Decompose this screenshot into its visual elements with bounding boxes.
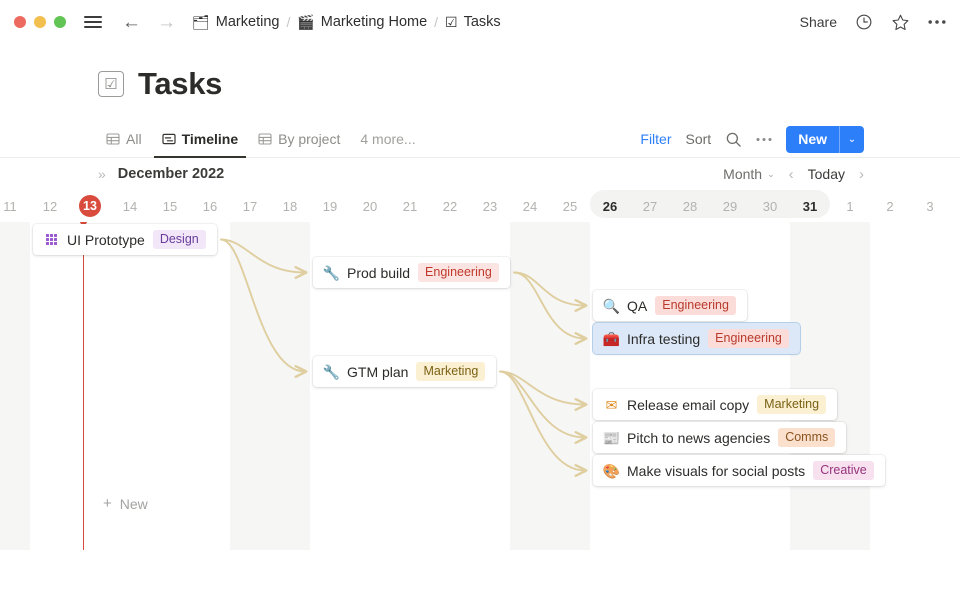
palette-icon: 🎨 bbox=[604, 464, 619, 478]
breadcrumb-separator: / bbox=[434, 14, 438, 30]
ruler-day-14[interactable]: 14 bbox=[110, 192, 150, 220]
ruler-day-28[interactable]: 28 bbox=[670, 192, 710, 220]
breadcrumb-item-marketing-home[interactable]: 🎬 Marketing Home bbox=[297, 14, 427, 30]
ruler-day-21[interactable]: 21 bbox=[390, 192, 430, 220]
timeline-icon bbox=[162, 132, 176, 146]
back-icon[interactable]: ← bbox=[122, 13, 141, 32]
ruler-day-29[interactable]: 29 bbox=[710, 192, 750, 220]
share-button[interactable]: Share bbox=[800, 14, 837, 30]
breadcrumb-label: Marketing Home bbox=[321, 14, 427, 30]
task-card-tag: Marketing bbox=[416, 362, 485, 382]
task-card-tag: Engineering bbox=[655, 296, 736, 316]
timeline-canvas[interactable]: + New UI PrototypeDesign🔧Prod buildEngin… bbox=[0, 222, 960, 550]
task-card-tag: Marketing bbox=[757, 395, 826, 415]
add-new-task-label: New bbox=[120, 496, 148, 512]
task-card-tag: Engineering bbox=[418, 263, 499, 283]
card-index-icon: 🗂 bbox=[192, 15, 210, 29]
new-button-label: New bbox=[786, 126, 839, 153]
task-card-title: Pitch to news agencies bbox=[627, 430, 770, 446]
view-bar-actions: Filter Sort New ⌄ bbox=[640, 126, 864, 153]
view-more-icon[interactable] bbox=[756, 137, 772, 142]
timeline-zoom-label: Month bbox=[723, 166, 762, 182]
timeline-task-card-ui-prototype[interactable]: UI PrototypeDesign bbox=[33, 224, 217, 255]
grid-icon bbox=[44, 234, 59, 246]
page-header: ☑ Tasks bbox=[0, 44, 960, 102]
view-bar: All Timeline By project 4 more... Filter… bbox=[0, 121, 960, 158]
page-title: Tasks bbox=[138, 66, 222, 102]
task-card-title: GTM plan bbox=[347, 364, 408, 380]
today-button[interactable]: Today bbox=[808, 166, 845, 182]
breadcrumb-item-marketing[interactable]: 🗂 Marketing bbox=[192, 14, 279, 30]
previous-period-button[interactable]: ‹ bbox=[789, 166, 794, 183]
table-icon bbox=[106, 132, 120, 146]
ruler-day-3[interactable]: 3 bbox=[910, 192, 950, 220]
maximize-window-button[interactable] bbox=[54, 16, 66, 28]
ruler-day-25[interactable]: 25 bbox=[550, 192, 590, 220]
tab-label: Timeline bbox=[182, 131, 239, 147]
sort-button[interactable]: Sort bbox=[686, 131, 712, 147]
next-period-button[interactable]: › bbox=[859, 166, 864, 183]
timeline-task-card-release-email-copy[interactable]: ✉Release email copyMarketing bbox=[593, 389, 837, 420]
ruler-day-22[interactable]: 22 bbox=[430, 192, 470, 220]
breadcrumb-separator: / bbox=[286, 14, 290, 30]
ruler-day-12[interactable]: 12 bbox=[30, 192, 70, 220]
timeline-nav: Month ⌄ ‹ Today › bbox=[723, 166, 864, 183]
task-card-title: Prod build bbox=[347, 265, 410, 281]
ruler-day-19[interactable]: 19 bbox=[310, 192, 350, 220]
tab-by-project[interactable]: By project bbox=[250, 121, 348, 157]
breadcrumb-label: Tasks bbox=[464, 14, 501, 30]
timeline-task-card-infra-testing[interactable]: 🧰Infra testingEngineering bbox=[593, 323, 800, 354]
close-window-button[interactable] bbox=[14, 16, 26, 28]
add-new-task-button[interactable]: + New bbox=[103, 495, 148, 512]
ruler-day-20[interactable]: 20 bbox=[350, 192, 390, 220]
ruler-day-18[interactable]: 18 bbox=[270, 192, 310, 220]
ruler-day-27[interactable]: 27 bbox=[630, 192, 670, 220]
ruler-day-31[interactable]: 31 bbox=[790, 192, 830, 220]
task-card-tag: Engineering bbox=[708, 329, 789, 349]
ruler-day-1[interactable]: 1 bbox=[830, 192, 870, 220]
timeline-task-card-pitch-to-news-agencies[interactable]: 📰Pitch to news agenciesComms bbox=[593, 422, 846, 453]
today-marker-line bbox=[83, 222, 84, 550]
chevron-down-icon: ⌄ bbox=[767, 169, 775, 180]
timeline-toolbar: » December 2022 Month ⌄ ‹ Today › bbox=[0, 158, 960, 190]
tab-label: By project bbox=[278, 131, 340, 147]
wrench-icon: 🔧 bbox=[324, 266, 339, 280]
timeline-task-card-make-visuals-for-social-posts[interactable]: 🎨Make visuals for social postsCreative bbox=[593, 455, 885, 486]
more-views-button[interactable]: 4 more... bbox=[352, 131, 423, 147]
minimize-window-button[interactable] bbox=[34, 16, 46, 28]
plus-icon: + bbox=[103, 495, 112, 512]
title-bar-actions: Share bbox=[800, 13, 946, 32]
star-icon[interactable] bbox=[891, 13, 910, 32]
ellipsis-icon[interactable] bbox=[928, 19, 946, 25]
chevron-down-icon[interactable]: ⌄ bbox=[839, 126, 864, 153]
breadcrumb-label: Marketing bbox=[216, 14, 280, 30]
wrench-icon: 🔧 bbox=[324, 365, 339, 379]
timeline-month-label: December 2022 bbox=[118, 166, 224, 182]
timeline-task-card-qa[interactable]: 🔍QAEngineering bbox=[593, 290, 747, 321]
tab-all[interactable]: All bbox=[98, 121, 150, 157]
newspaper-icon: 📰 bbox=[604, 431, 619, 445]
tab-label: All bbox=[126, 131, 142, 147]
search-icon[interactable] bbox=[725, 131, 742, 148]
checkbox-icon: ☑ bbox=[98, 71, 124, 97]
clock-icon[interactable] bbox=[855, 13, 873, 31]
task-card-tag: Design bbox=[153, 230, 206, 250]
ruler-day-13[interactable]: 13 bbox=[70, 192, 110, 220]
view-tabs: All Timeline By project 4 more... bbox=[98, 121, 424, 157]
ruler-day-11[interactable]: 11 bbox=[0, 192, 30, 220]
ruler-day-17[interactable]: 17 bbox=[230, 192, 270, 220]
window-title-bar: ← → 🗂 Marketing / 🎬 Marketing Home / ☑ T… bbox=[0, 0, 960, 44]
envelope-icon: ✉ bbox=[604, 398, 619, 412]
clapper-board-icon: 🎬 bbox=[297, 15, 314, 29]
task-card-tag: Comms bbox=[778, 428, 835, 448]
task-card-title: QA bbox=[627, 298, 647, 314]
ruler-day-23[interactable]: 23 bbox=[470, 192, 510, 220]
ruler-day-15[interactable]: 15 bbox=[150, 192, 190, 220]
timeline-task-card-prod-build[interactable]: 🔧Prod buildEngineering bbox=[313, 257, 510, 288]
page-title-row: ☑ Tasks bbox=[98, 66, 960, 102]
ruler-day-16[interactable]: 16 bbox=[190, 192, 230, 220]
ruler-day-24[interactable]: 24 bbox=[510, 192, 550, 220]
weekend-column-band bbox=[0, 222, 30, 550]
tab-timeline[interactable]: Timeline bbox=[154, 121, 247, 157]
timeline-task-card-gtm-plan[interactable]: 🔧GTM planMarketing bbox=[313, 356, 496, 387]
chevron-double-right-icon[interactable]: » bbox=[98, 166, 106, 182]
window-traffic-lights bbox=[14, 16, 66, 28]
magnifier-icon: 🔍 bbox=[604, 299, 619, 313]
new-button[interactable]: New ⌄ bbox=[786, 126, 864, 153]
task-card-title: Infra testing bbox=[627, 331, 700, 347]
weekend-column-band bbox=[790, 222, 870, 550]
weekend-column-band bbox=[510, 222, 590, 550]
ruler-day-2[interactable]: 2 bbox=[870, 192, 910, 220]
sidebar-toggle-icon[interactable] bbox=[84, 16, 102, 28]
filter-button[interactable]: Filter bbox=[640, 131, 671, 147]
forward-icon[interactable]: → bbox=[157, 13, 176, 32]
weekend-column-band bbox=[230, 222, 310, 550]
task-card-title: UI Prototype bbox=[67, 232, 145, 248]
toolbox-icon: 🧰 bbox=[604, 332, 619, 346]
breadcrumb-item-tasks[interactable]: ☑ Tasks bbox=[445, 14, 501, 30]
timeline-zoom-select[interactable]: Month ⌄ bbox=[723, 166, 774, 182]
timeline-date-ruler[interactable]: 1112131415161718192021222324252627282930… bbox=[0, 192, 960, 220]
table-icon bbox=[258, 132, 272, 146]
task-card-title: Release email copy bbox=[627, 397, 749, 413]
ruler-day-26[interactable]: 26 bbox=[590, 192, 630, 220]
task-card-title: Make visuals for social posts bbox=[627, 463, 805, 479]
breadcrumb: 🗂 Marketing / 🎬 Marketing Home / ☑ Tasks bbox=[192, 14, 501, 30]
ruler-day-30[interactable]: 30 bbox=[750, 192, 790, 220]
navigation-arrows: ← → bbox=[122, 13, 176, 32]
checkbox-icon: ☑ bbox=[445, 15, 458, 29]
ruler-today-pill: 13 bbox=[79, 195, 101, 217]
task-card-tag: Creative bbox=[813, 461, 874, 481]
